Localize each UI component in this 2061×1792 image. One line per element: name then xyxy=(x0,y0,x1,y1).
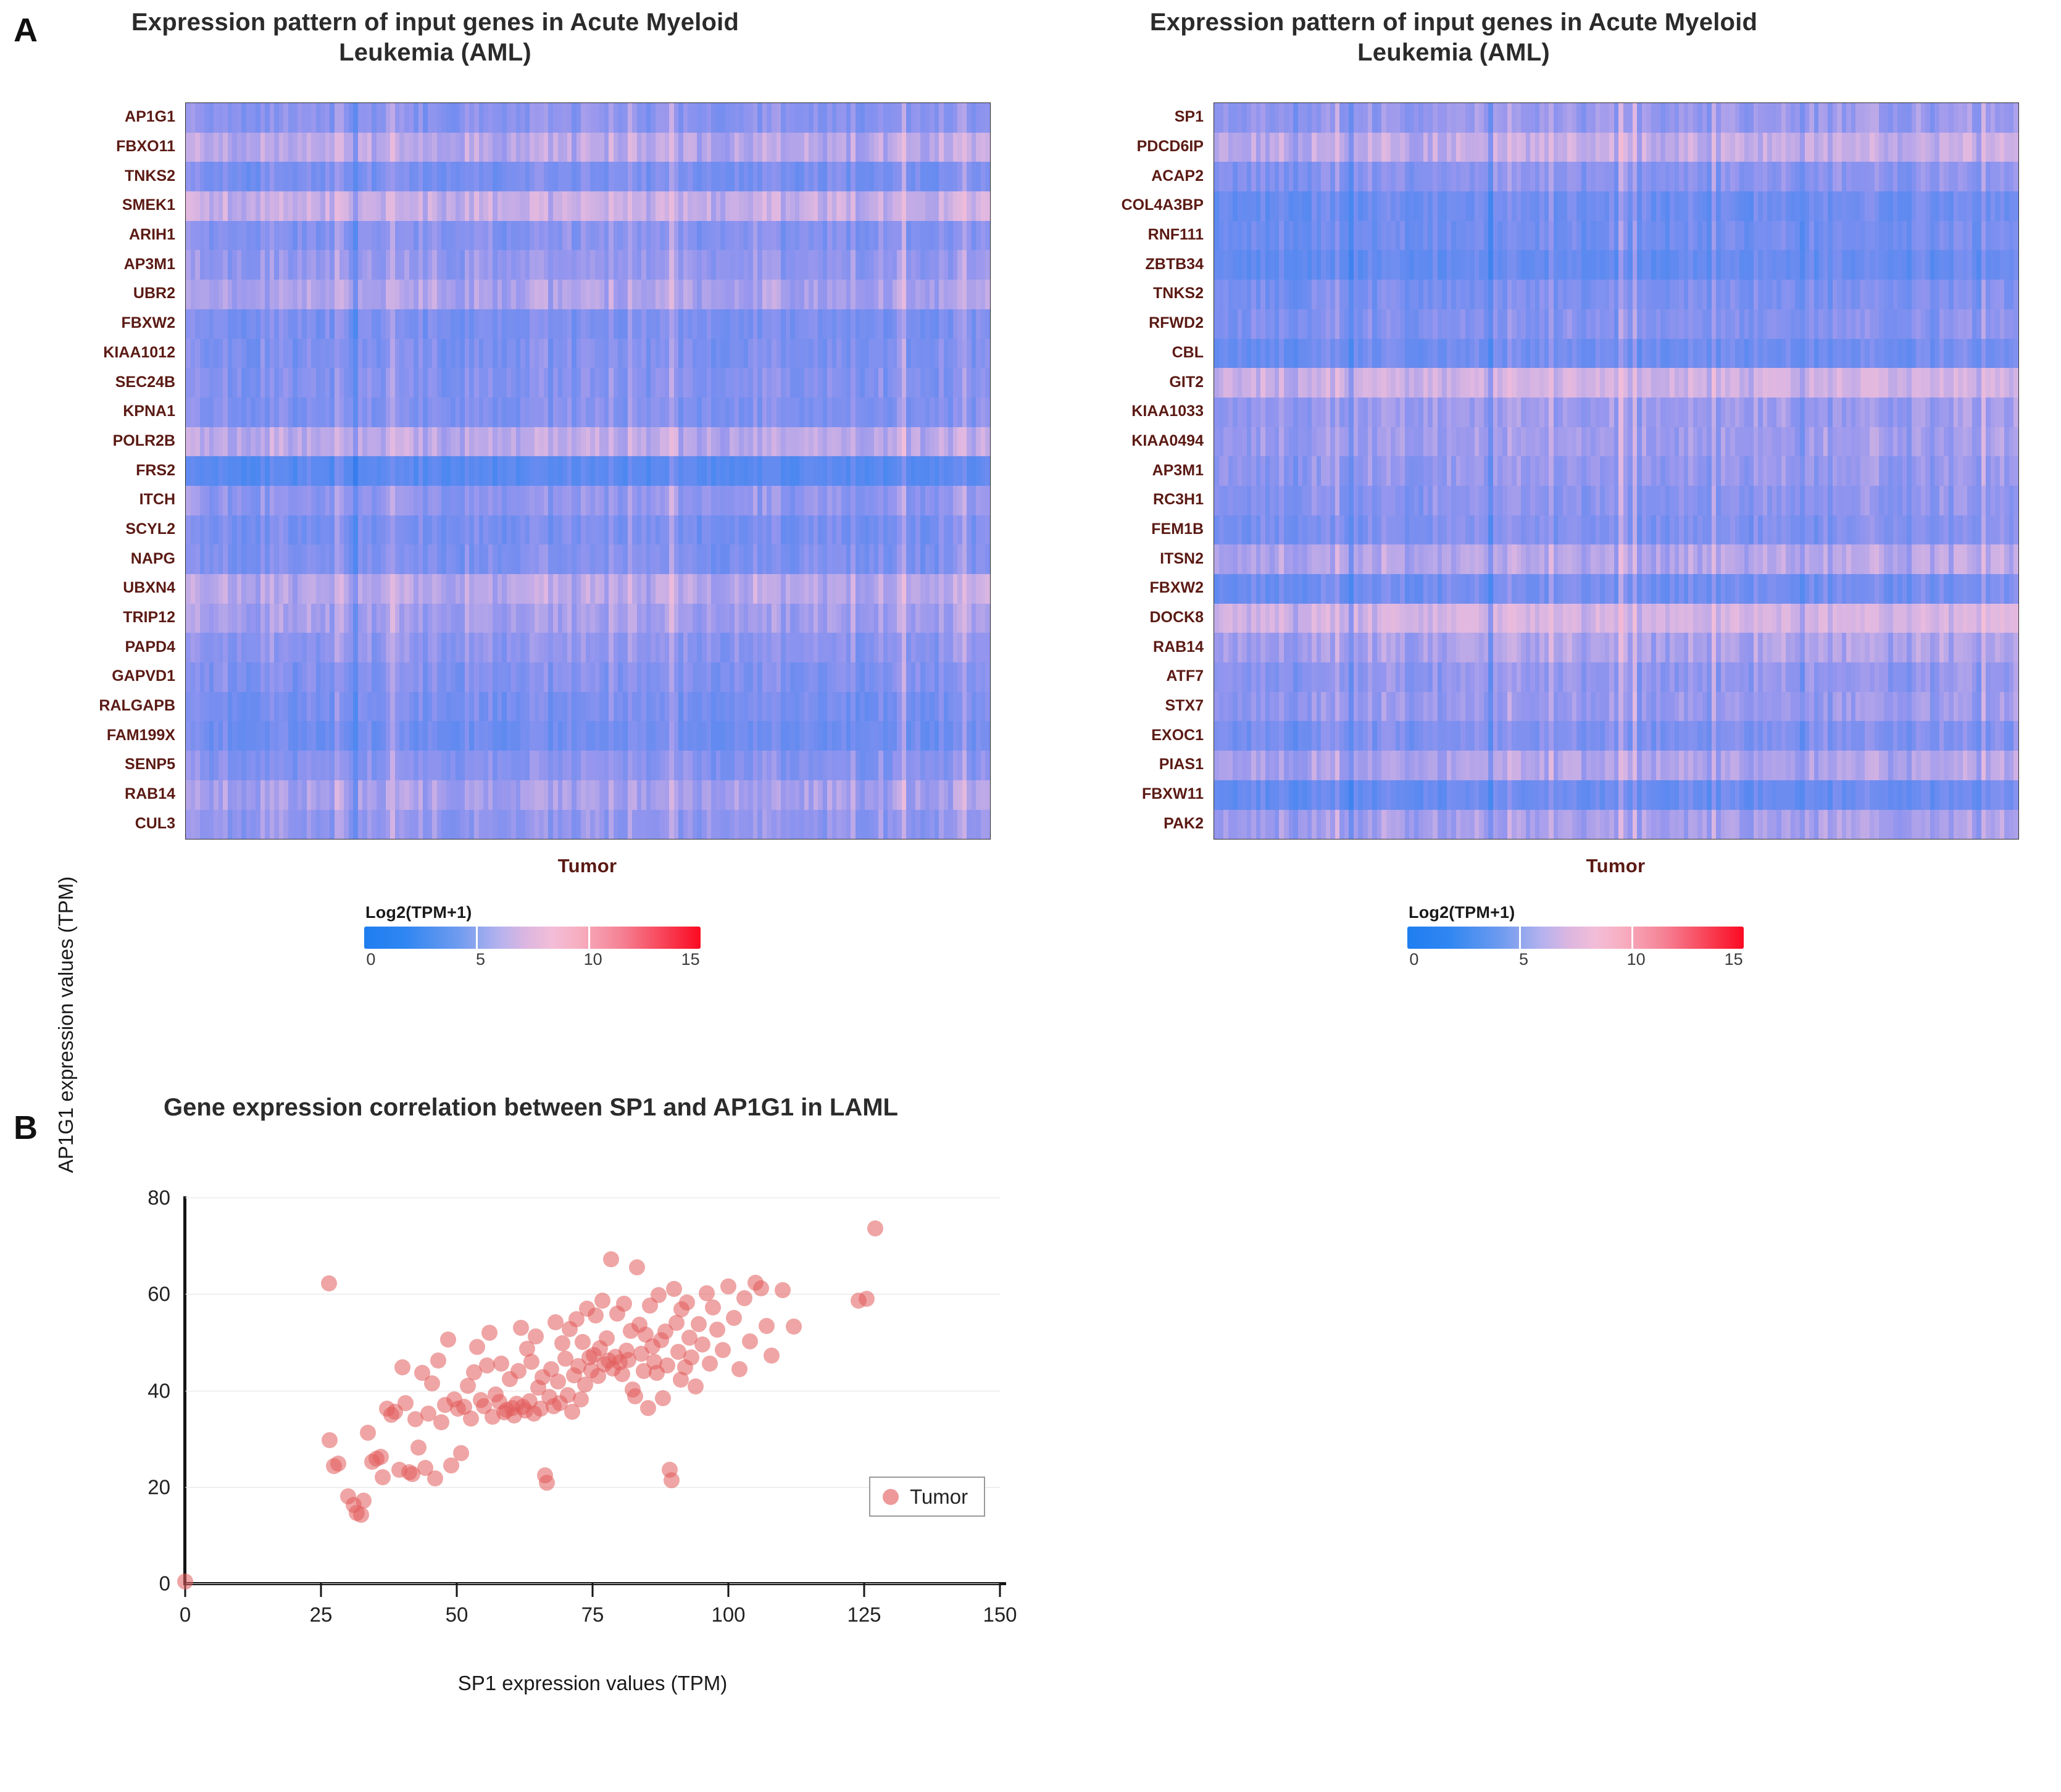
gene-label: FBXO11 xyxy=(12,132,185,162)
scatter-point xyxy=(588,1307,604,1323)
scatter-xtick-label: 50 xyxy=(446,1604,468,1625)
heatmap-row xyxy=(186,191,990,221)
heatmap-row xyxy=(186,662,990,692)
scatter-point xyxy=(430,1352,446,1369)
gene-label: RAB14 xyxy=(12,780,185,809)
scatter-point xyxy=(321,1275,337,1291)
scatter-point xyxy=(731,1361,747,1377)
scatter-point xyxy=(322,1432,338,1448)
colorbar-left-tick-15: 15 xyxy=(681,951,700,968)
heatmap-row xyxy=(186,574,990,604)
scatter-xtick xyxy=(456,1583,458,1597)
scatter-point xyxy=(736,1290,752,1306)
scatter-point xyxy=(398,1395,414,1411)
heatmap-row xyxy=(1214,515,2018,545)
heatmap-row xyxy=(1214,427,2018,457)
heatmap-row xyxy=(186,103,990,133)
scatter-xtick xyxy=(728,1583,730,1597)
gene-label: PAK2 xyxy=(1031,809,1214,839)
colorbar-right-title: Log2(TPM+1) xyxy=(1409,904,1744,921)
heatmap-row xyxy=(1214,398,2018,427)
scatter-point xyxy=(720,1278,736,1294)
scatter-xtick xyxy=(864,1583,865,1597)
gene-label: SEC24B xyxy=(12,367,185,397)
heatmap-right-row-labels: SP1PDCD6IPACAP2COL4A3BPRNF111ZBTB34TNKS2… xyxy=(1031,102,1214,838)
heatmap-row xyxy=(1214,692,2018,722)
scatter-point xyxy=(753,1280,769,1296)
heatmap-row xyxy=(1214,721,2018,751)
gene-label: FRS2 xyxy=(12,456,185,485)
scatter-point xyxy=(627,1388,643,1404)
scatter-xtick-label: 125 xyxy=(847,1604,881,1625)
gene-label: UBXN4 xyxy=(12,573,185,603)
gene-label: AP3M1 xyxy=(1031,456,1214,485)
heatmap-row xyxy=(186,250,990,280)
heatmap-row xyxy=(1214,162,2018,191)
scatter-point xyxy=(410,1440,427,1456)
gene-label: KPNA1 xyxy=(12,397,185,427)
scatter-point xyxy=(356,1493,372,1509)
gene-label: NAPG xyxy=(12,544,185,573)
scatter-point xyxy=(479,1357,495,1373)
scatter-xtick-label: 25 xyxy=(310,1604,333,1625)
scatter-point xyxy=(688,1378,704,1394)
heatmap-row xyxy=(1214,103,2018,133)
scatter-point xyxy=(481,1325,498,1341)
scatter-point xyxy=(699,1285,715,1301)
gene-label: SENP5 xyxy=(12,750,185,780)
scatter-point xyxy=(453,1445,469,1461)
gene-label: KIAA1012 xyxy=(12,338,185,368)
colorbar-right-ticks: 0 5 10 15 xyxy=(1407,951,1744,976)
heatmap-row xyxy=(186,398,990,427)
colorbar-right-gradient xyxy=(1407,927,1744,949)
scatter-ylabel: AP1G1 expression values (TPM) xyxy=(56,840,76,1210)
scatter-point xyxy=(554,1335,570,1351)
gene-label: FAM199X xyxy=(12,720,185,750)
colorbar-left-tick-10: 10 xyxy=(584,951,602,968)
heatmap-row xyxy=(1214,368,2018,398)
gene-label: SCYL2 xyxy=(12,515,185,544)
gene-label: POLR2B xyxy=(12,427,185,456)
scatter-point xyxy=(513,1320,529,1336)
gene-label: ZBTB34 xyxy=(1031,249,1214,279)
scatter-point xyxy=(528,1328,544,1344)
heatmap-row xyxy=(186,280,990,309)
legend-marker-icon xyxy=(883,1489,899,1505)
scatter-xtick-label: 150 xyxy=(983,1604,1017,1625)
gene-label: KIAA0494 xyxy=(1031,427,1214,456)
scatter-ytick-label: 40 xyxy=(148,1380,170,1401)
heatmap-row xyxy=(1214,486,2018,515)
colorbar-left-tick-5: 5 xyxy=(476,951,485,968)
scatter-point xyxy=(775,1282,791,1298)
heatmap-row xyxy=(1214,633,2018,662)
colorbar-right-tick-10: 10 xyxy=(1627,951,1646,968)
scatter-point xyxy=(550,1373,566,1390)
heatmap-right-grid xyxy=(1214,102,2019,840)
scatter-point xyxy=(651,1287,667,1303)
scatter-point xyxy=(539,1475,555,1491)
gene-label: RFWD2 xyxy=(1031,309,1214,338)
gene-label: ITCH xyxy=(12,485,185,515)
scatter-point xyxy=(599,1330,615,1346)
gene-label: TNKS2 xyxy=(1031,279,1214,309)
colorbar-left-title: Log2(TPM+1) xyxy=(365,904,701,921)
heatmap-row xyxy=(186,486,990,515)
scatter-ytick-label: 80 xyxy=(148,1188,170,1208)
heatmap-row xyxy=(1214,309,2018,339)
heatmap-left-row-labels: AP1G1FBXO11TNKS2SMEK1ARIH1AP3M1UBR2FBXW2… xyxy=(12,102,185,838)
heatmap-row xyxy=(1214,780,2018,810)
heatmap-row xyxy=(186,221,990,251)
heatmap-row xyxy=(1214,280,2018,309)
gene-label: GIT2 xyxy=(1031,367,1214,397)
colorbar-right-tick-0: 0 xyxy=(1409,951,1418,968)
scatter-gridline xyxy=(185,1198,1000,1198)
colorbar-right-tick-15: 15 xyxy=(1725,951,1743,968)
heatmap-row xyxy=(186,544,990,574)
colorbar-right-tick-5: 5 xyxy=(1519,951,1528,968)
heatmap-row xyxy=(1214,544,2018,574)
gene-label: UBR2 xyxy=(12,279,185,309)
gene-label: DOCK8 xyxy=(1031,603,1214,633)
gene-label: RALGAPB xyxy=(12,691,185,721)
heatmap-left-grid xyxy=(185,102,991,840)
heatmap-row xyxy=(186,427,990,457)
heatmap-row xyxy=(186,604,990,633)
scatter-point xyxy=(702,1356,718,1372)
heatmap-row xyxy=(186,133,990,162)
scatter-title: Gene expression correlation between SP1 … xyxy=(93,1093,969,1123)
gene-label: FEM1B xyxy=(1031,515,1214,544)
scatter-point xyxy=(360,1425,376,1441)
heatmap-panel-right: Expression pattern of input genes in Acu… xyxy=(1031,0,2061,1049)
heatmap-row xyxy=(186,339,990,369)
heatmap-row xyxy=(186,751,990,780)
heatmap-row xyxy=(1214,751,2018,780)
gene-label: ARIH1 xyxy=(12,220,185,250)
scatter-point xyxy=(715,1342,731,1358)
heatmap-left-xlabel: Tumor xyxy=(185,855,989,877)
heatmap-row xyxy=(186,721,990,751)
scatter-xtick xyxy=(592,1583,594,1597)
scatter-xlabel: SP1 expression values (TPM) xyxy=(185,1673,1000,1693)
scatter-point xyxy=(353,1507,369,1523)
gene-label: KIAA1033 xyxy=(1031,397,1214,427)
gene-label: ATF7 xyxy=(1031,662,1214,691)
scatter-xtick-label: 75 xyxy=(581,1604,604,1625)
gene-label: COL4A3BP xyxy=(1031,191,1214,220)
legend-label-tumor: Tumor xyxy=(910,1486,968,1507)
scatter-point xyxy=(764,1348,780,1364)
gene-label: TNKS2 xyxy=(12,161,185,191)
heatmap-row xyxy=(186,633,990,662)
heatmap-right-title: Expression pattern of input genes in Acu… xyxy=(1105,7,1802,68)
heatmap-row xyxy=(186,368,990,398)
scatter-ytick-label: 0 xyxy=(159,1573,170,1594)
heatmap-row xyxy=(1214,456,2018,486)
gene-label: FBXW2 xyxy=(1031,573,1214,603)
scatter-ytick-label: 20 xyxy=(148,1477,170,1497)
scatter-point xyxy=(683,1349,699,1365)
colorbar-left-ticks: 0 5 10 15 xyxy=(364,951,701,976)
heatmap-row xyxy=(1214,604,2018,633)
scatter-point xyxy=(373,1449,389,1465)
heatmap-row xyxy=(1214,133,2018,162)
gene-label: CUL3 xyxy=(12,809,185,839)
scatter-point xyxy=(573,1391,589,1407)
scatter-gridline xyxy=(185,1294,1000,1294)
heatmap-row xyxy=(186,309,990,339)
scatter-point xyxy=(375,1469,391,1485)
heatmap-row xyxy=(1214,191,2018,221)
gene-label: RAB14 xyxy=(1031,632,1214,662)
heatmap-row xyxy=(1214,810,2018,840)
scatter-gridline xyxy=(185,1391,1000,1391)
colorbar-left-gradient xyxy=(364,927,701,949)
gene-label: RNF111 xyxy=(1031,220,1214,250)
gene-label: SMEK1 xyxy=(12,191,185,220)
gene-label: ACAP2 xyxy=(1031,161,1214,191)
heatmap-left-title: Expression pattern of input genes in Acu… xyxy=(86,7,784,68)
scatter-point xyxy=(859,1291,875,1307)
scatter-ytick-label: 60 xyxy=(148,1284,170,1304)
heatmap-row xyxy=(186,810,990,840)
heatmap-row xyxy=(1214,221,2018,251)
scatter-point xyxy=(691,1316,707,1332)
gene-label: GAPVD1 xyxy=(12,662,185,691)
heatmap-row xyxy=(186,162,990,191)
colorbar-left: Log2(TPM+1) 0 5 10 15 xyxy=(364,904,701,976)
scatter-point xyxy=(664,1472,680,1488)
gene-label: AP1G1 xyxy=(12,102,185,132)
heatmap-row xyxy=(186,780,990,810)
heatmap-panel-left: Expression pattern of input genes in Acu… xyxy=(0,0,1031,1049)
scatter-point xyxy=(679,1294,695,1311)
scatter-point xyxy=(616,1296,632,1312)
scatter-panel: Gene expression correlation between SP1 … xyxy=(0,1086,1049,1790)
scatter-point xyxy=(705,1299,721,1315)
gene-label: FBXW11 xyxy=(1031,780,1214,809)
heatmap-row xyxy=(186,456,990,486)
colorbar-right: Log2(TPM+1) 0 5 10 15 xyxy=(1407,904,1744,976)
scatter-point xyxy=(440,1331,456,1348)
gene-label: FBXW2 xyxy=(12,309,185,338)
scatter-point xyxy=(786,1319,802,1335)
colorbar-left-tick-0: 0 xyxy=(366,951,375,968)
gene-label: CBL xyxy=(1031,338,1214,368)
scatter-point xyxy=(177,1573,193,1590)
scatter-point xyxy=(523,1354,539,1370)
gene-label: PDCD6IP xyxy=(1031,132,1214,162)
heatmap-row xyxy=(186,515,990,545)
scatter-point xyxy=(603,1251,619,1267)
scatter-point xyxy=(424,1375,440,1391)
heatmap-row xyxy=(186,692,990,722)
gene-label: PIAS1 xyxy=(1031,750,1214,780)
scatter-point xyxy=(469,1339,485,1355)
scatter-point xyxy=(655,1390,671,1406)
scatter-point xyxy=(427,1470,443,1486)
scatter-xtick xyxy=(320,1583,322,1597)
scatter-point xyxy=(694,1336,710,1352)
scatter-plot-area: 0204060800255075100125150 xyxy=(185,1198,1000,1583)
heatmap-row xyxy=(1214,250,2018,280)
scatter-point xyxy=(394,1359,410,1375)
gene-label: EXOC1 xyxy=(1031,720,1214,750)
scatter-point xyxy=(726,1310,742,1326)
scatter-point xyxy=(666,1281,682,1297)
scatter-point xyxy=(433,1414,449,1430)
scatter-point xyxy=(493,1356,509,1372)
scatter-point xyxy=(759,1318,775,1334)
gene-label: RC3H1 xyxy=(1031,485,1214,515)
scatter-point xyxy=(659,1357,675,1373)
gene-label: SP1 xyxy=(1031,102,1214,132)
scatter-point xyxy=(867,1220,883,1236)
gene-label: TRIP12 xyxy=(12,603,185,633)
scatter-point xyxy=(640,1400,656,1416)
scatter-point xyxy=(629,1259,645,1275)
scatter-point xyxy=(330,1456,346,1472)
gene-label: ITSN2 xyxy=(1031,544,1214,573)
heatmap-row xyxy=(1214,574,2018,604)
scatter-point xyxy=(742,1333,758,1349)
gene-label: AP3M1 xyxy=(12,249,185,279)
heatmap-row xyxy=(1214,662,2018,692)
scatter-xtick-label: 0 xyxy=(180,1604,191,1625)
scatter-point xyxy=(614,1366,630,1382)
gene-label: PAPD4 xyxy=(12,632,185,662)
scatter-xtick xyxy=(999,1583,1001,1597)
scatter-point xyxy=(463,1411,479,1427)
scatter-xtick-label: 100 xyxy=(711,1604,745,1625)
scatter-point xyxy=(594,1293,610,1309)
scatter-legend[interactable]: Tumor xyxy=(869,1477,985,1517)
heatmap-right-xlabel: Tumor xyxy=(1214,855,2018,877)
heatmap-row xyxy=(1214,339,2018,369)
gene-label: STX7 xyxy=(1031,691,1214,721)
scatter-point xyxy=(709,1322,725,1338)
